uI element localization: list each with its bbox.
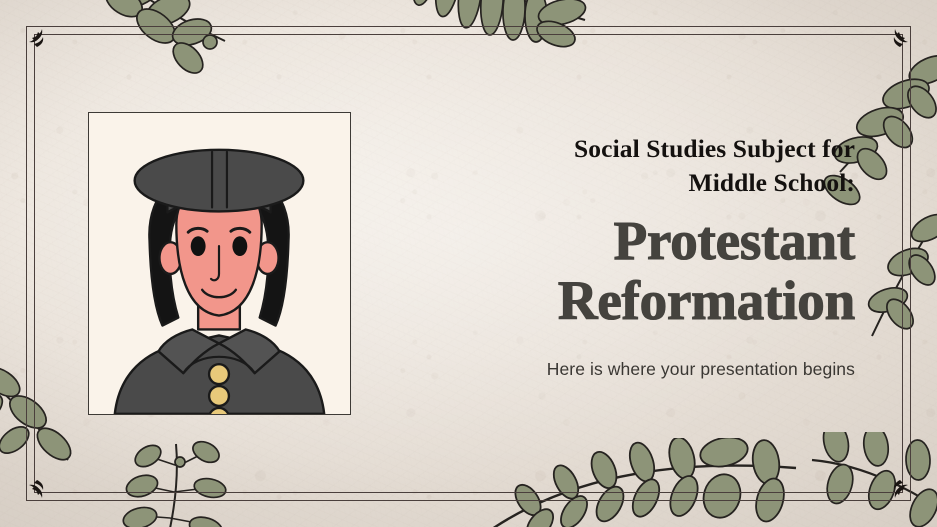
title-line-2: Reformation <box>558 270 855 331</box>
slide-eyebrow: Social Studies Subject for Middle School… <box>430 132 855 199</box>
title-line-1: Protestant <box>614 210 855 271</box>
portrait-image-panel[interactable] <box>88 112 351 415</box>
page-title: Protestant Reformation <box>430 211 855 330</box>
presentation-slide: Social Studies Subject for Middle School… <box>0 0 937 527</box>
slide-subtitle: Here is where your presentation begins <box>430 359 855 380</box>
eyebrow-line-2: Middle School: <box>689 168 855 197</box>
eyebrow-line-1: Social Studies Subject for <box>574 134 855 163</box>
reformer-portrait-illustration <box>89 113 350 414</box>
title-text-block: Social Studies Subject for Middle School… <box>430 132 855 380</box>
